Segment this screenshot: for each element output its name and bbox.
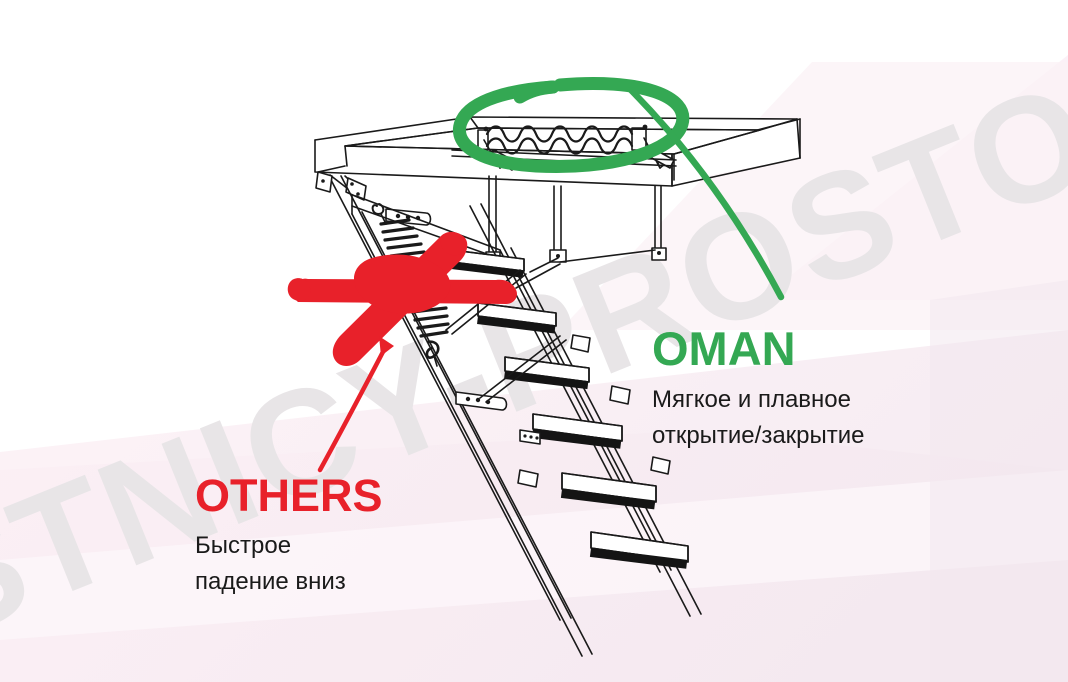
others-description-line2: падение вниз (195, 564, 495, 600)
others-title: OTHERS (195, 473, 495, 518)
oman-title: OMAN (652, 325, 982, 372)
others-description-line1: Быстрое (195, 528, 495, 564)
others-description: Быстрое падение вниз (195, 528, 495, 601)
oman-description: Мягкое и плавное открытие/закрытие (652, 382, 982, 455)
oman-description-line2: открытие/закрытие (652, 418, 982, 454)
oman-description-line1: Мягкое и плавное (652, 382, 982, 418)
oman-callout: OMAN Мягкое и плавное открытие/закрытие (652, 325, 982, 455)
others-callout: OTHERS Быстрое падение вниз (195, 473, 495, 601)
infographic-canvas: LESTNICY-PROSTO.RU (0, 0, 1068, 682)
